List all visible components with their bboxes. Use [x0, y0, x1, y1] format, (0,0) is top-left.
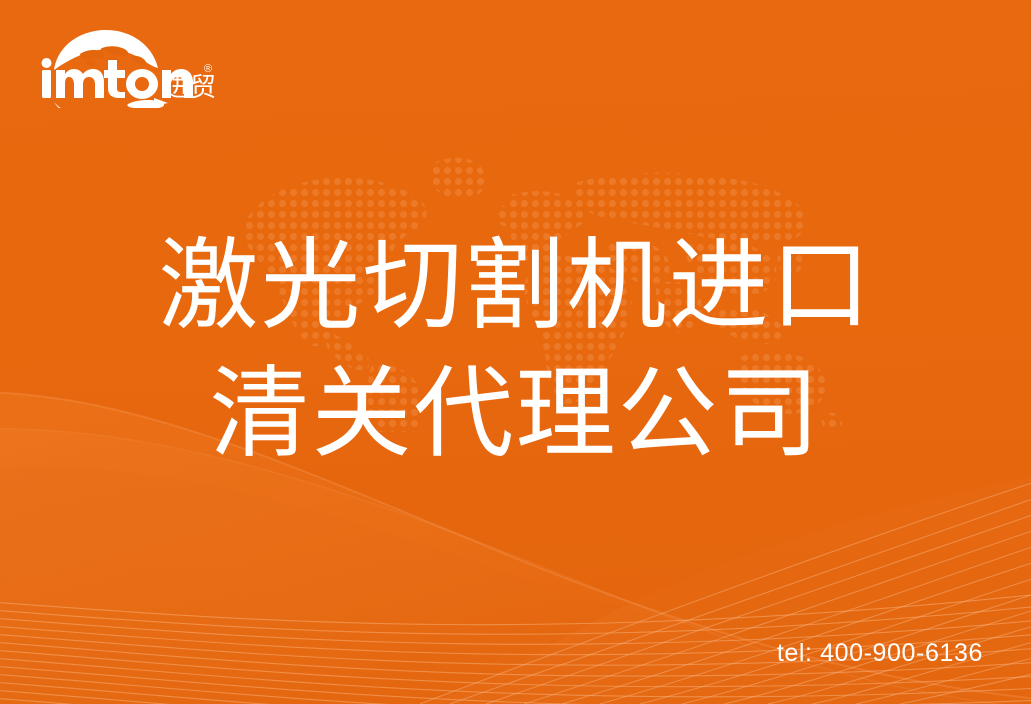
trademark-symbol: ®	[204, 63, 212, 75]
logo-chinese-name: 进贸通	[164, 72, 216, 102]
promo-banner: 进贸通 ® 激光切割机进口 清关代理公司 tel: 400-900-6136	[0, 0, 1031, 704]
globe-arc-icon	[54, 30, 160, 72]
headline-line-2: 清关代理公司	[0, 350, 1031, 478]
page-title: 激光切割机进口 清关代理公司	[0, 222, 1031, 478]
contact-phone[interactable]: tel: 400-900-6136	[777, 638, 983, 668]
headline-line-1: 激光切割机进口	[0, 222, 1031, 350]
brand-logo[interactable]: 进贸通 ®	[36, 26, 216, 108]
swoosh-arrow-icon	[54, 98, 168, 108]
line-fan	[0, 474, 1031, 704]
